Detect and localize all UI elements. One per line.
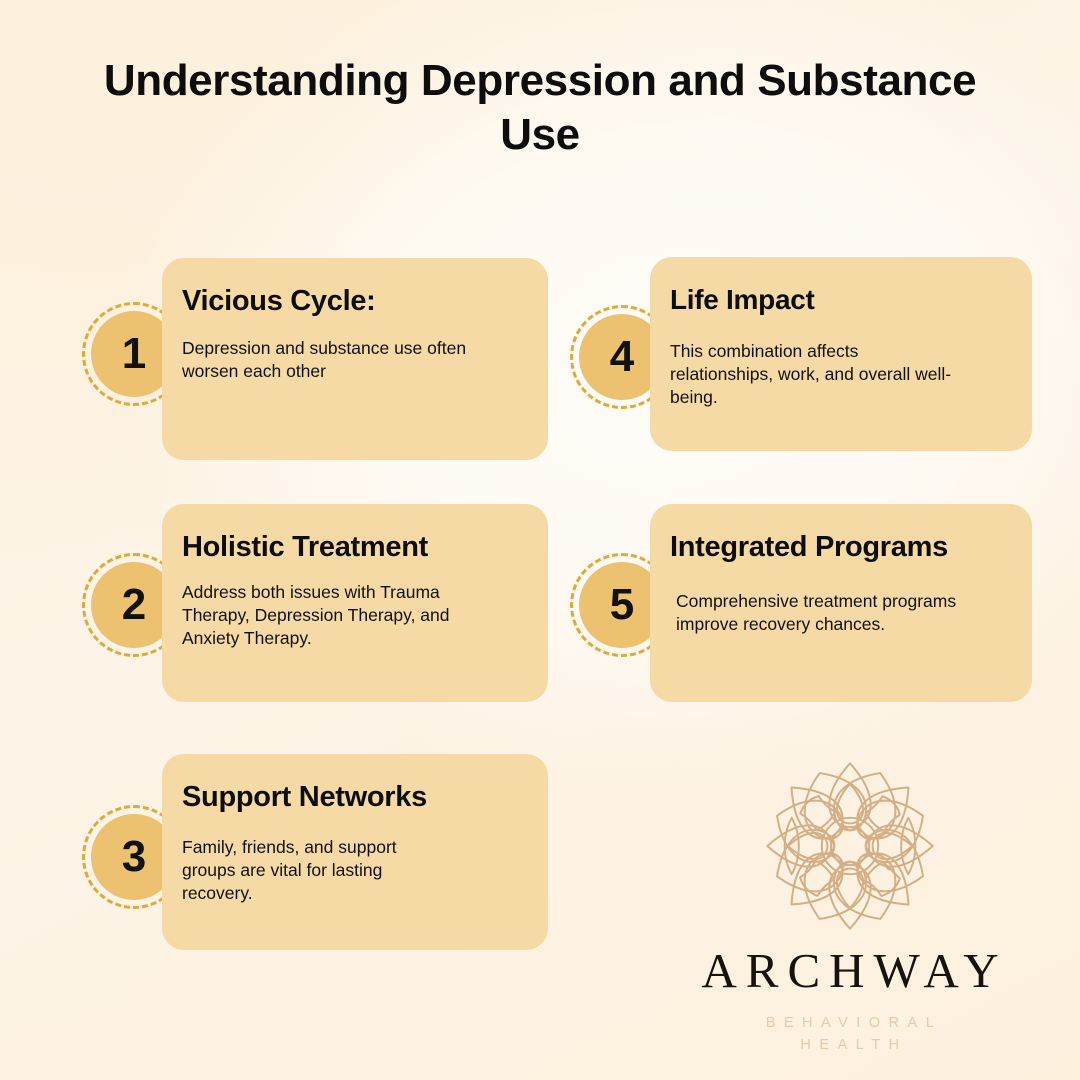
step-number: 3 (122, 835, 146, 879)
step-title: Holistic Treatment (182, 530, 518, 564)
brand-logo: ARCHWAY BEHAVIORAL HEALTH (640, 752, 1060, 1057)
step-content-card: Holistic Treatment Address both issues w… (162, 504, 548, 702)
step-number: 5 (610, 583, 634, 627)
step-title: Vicious Cycle: (182, 284, 518, 318)
step-title: Life Impact (670, 283, 1002, 316)
step-body: Comprehensive treatment programs improve… (670, 590, 1000, 636)
step-number: 2 (122, 583, 146, 627)
infographic-canvas: Understanding Depression and Substance U… (0, 0, 1080, 1080)
step-content-card: Support Networks Family, friends, and su… (162, 754, 548, 950)
step-card-2: 2 Holistic Treatment Address both issues… (82, 553, 548, 713)
step-content-card: Life Impact This combination affects rel… (650, 257, 1032, 451)
step-body: Address both issues with Trauma Therapy,… (182, 581, 472, 650)
logo-tagline: BEHAVIORAL HEALTH (640, 1012, 1060, 1057)
step-title: Support Networks (182, 780, 518, 814)
step-card-4: 4 Life Impact This combination affects r… (570, 305, 1036, 465)
step-title: Integrated Programs (670, 530, 1002, 564)
logo-wordmark: ARCHWAY (640, 946, 1060, 995)
step-card-3: 3 Support Networks Family, friends, and … (82, 805, 548, 965)
page-title: Understanding Depression and Substance U… (90, 54, 990, 161)
step-content-card: Integrated Programs Comprehensive treatm… (650, 504, 1032, 702)
step-body: Depression and substance use often worse… (182, 337, 512, 383)
logo-tagline-line1: BEHAVIORAL (640, 1012, 1060, 1034)
step-number: 4 (610, 335, 634, 379)
mandala-flower-icon (750, 752, 950, 940)
step-body: Family, friends, and support groups are … (182, 836, 442, 905)
step-card-1: 1 Vicious Cycle: Depression and substanc… (82, 302, 548, 462)
step-number: 1 (122, 332, 146, 376)
step-card-5: 5 Integrated Programs Comprehensive trea… (570, 553, 1036, 713)
step-body: This combination affects relationships, … (670, 340, 955, 409)
logo-tagline-line2: HEALTH (640, 1034, 1060, 1056)
step-content-card: Vicious Cycle: Depression and substance … (162, 258, 548, 460)
